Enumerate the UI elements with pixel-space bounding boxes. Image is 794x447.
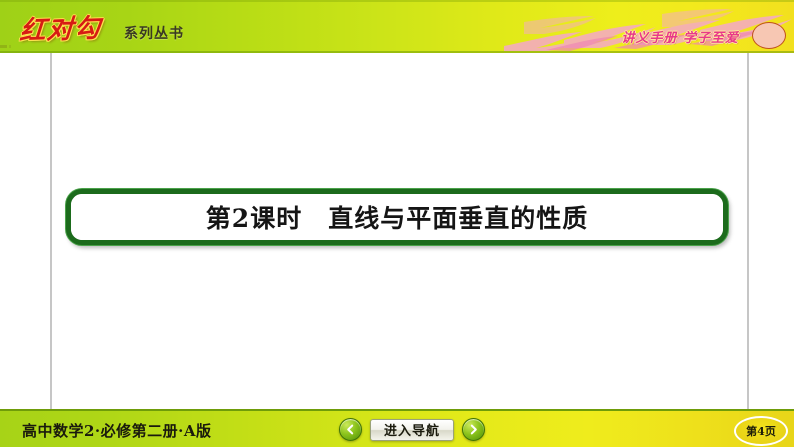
lesson-title-box: 第2课时 直线与平面垂直的性质 xyxy=(66,189,728,245)
enter-navigation-button[interactable]: 进入导航 xyxy=(370,419,454,441)
header-bottom-rule xyxy=(0,51,794,53)
prev-arrow-icon xyxy=(345,424,356,435)
page-number-badge: 第4页 xyxy=(734,416,788,446)
slide-canvas: 红对勾 系列丛书 讲义手册 学子至爱 xyxy=(0,0,794,447)
header-top-rule xyxy=(0,0,794,2)
next-button[interactable] xyxy=(462,418,485,441)
brand-subtitle: 系列丛书 xyxy=(124,23,184,43)
brand-logo: 红对勾 xyxy=(19,8,103,48)
slide-footer: 高中数学2·必修第二册·A版 进入导航 第4页 xyxy=(0,409,794,447)
header-tagline: 讲义手册 学子至爱 xyxy=(621,27,739,46)
left-guide-line xyxy=(50,53,52,411)
lesson-title-box-inner: 第2课时 直线与平面垂直的性质 xyxy=(71,194,723,240)
navigation-controls: 进入导航 xyxy=(339,418,485,441)
right-guide-line xyxy=(747,53,749,411)
next-arrow-icon xyxy=(468,424,479,435)
book-title-label: 高中数学2·必修第二册·A版 xyxy=(22,420,212,441)
slide-header: 红对勾 系列丛书 讲义手册 学子至爱 xyxy=(0,0,794,53)
prev-button[interactable] xyxy=(339,418,362,441)
page-title: 第2课时 直线与平面垂直的性质 xyxy=(206,199,588,235)
header-dashed-rule xyxy=(0,45,794,48)
